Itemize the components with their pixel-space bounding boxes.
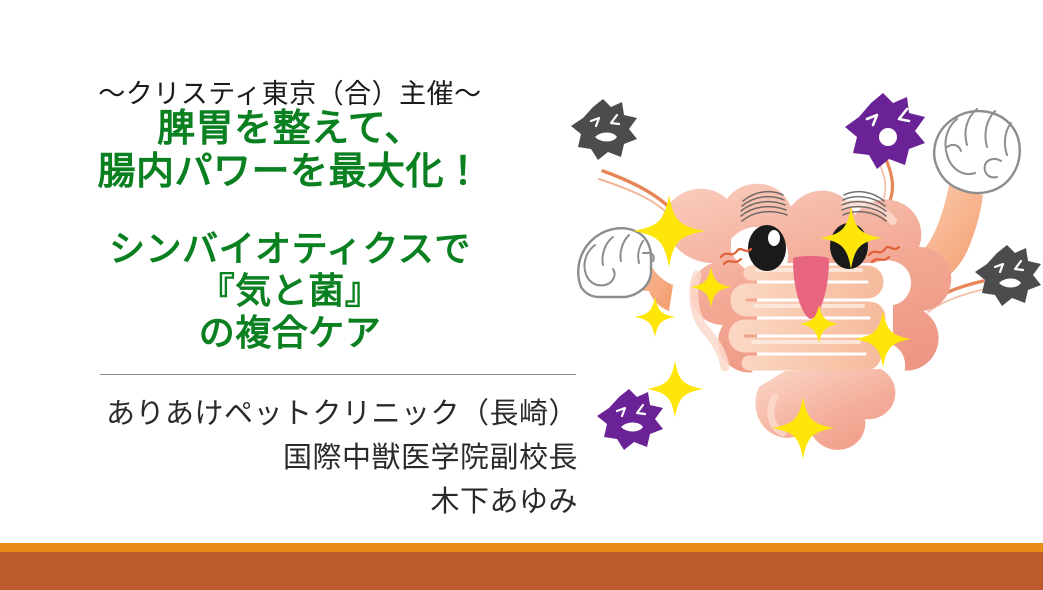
- horizontal-divider: [100, 374, 576, 375]
- host-line: 〜クリスティ東京（合）主催〜: [0, 72, 580, 111]
- sub-title: シンバイオティクスで 『気と菌』 の複合ケア: [0, 228, 580, 354]
- main-title-line-2: 腸内パワーを最大化！: [0, 151, 580, 194]
- attribution-presenter-name: 木下あゆみ: [0, 480, 578, 524]
- germ-gray-top-left: [571, 99, 637, 160]
- left-eye: [748, 225, 786, 271]
- sub-title-line-1: シンバイオティクスで: [0, 228, 580, 270]
- attribution-role: 国際中獣医学院副校長: [0, 436, 578, 480]
- sub-title-line-3: の複合ケア: [0, 312, 580, 354]
- cecum-pouch: [756, 369, 896, 450]
- text-column: 〜クリスティ東京（合）主催〜 脾胃を整えて、 腸内パワーを最大化！ シンバイオテ…: [0, 0, 600, 540]
- germ-purple-bottom: [597, 389, 663, 450]
- attribution-clinic: ありあけペットクリニック（長崎）: [0, 392, 578, 436]
- footer-base-bar: [0, 552, 1043, 590]
- footer-accent-bar: [0, 543, 1043, 552]
- germ-gray-right: [975, 245, 1041, 306]
- intestine-mascot-illustration: [545, 75, 1043, 540]
- sub-title-line-2: 『気と菌』: [0, 270, 580, 312]
- slide-canvas: 〜クリスティ東京（合）主催〜 脾胃を整えて、 腸内パワーを最大化！ シンバイオテ…: [0, 0, 1043, 590]
- attribution-block: ありあけペットクリニック（長崎） 国際中獣医学院副校長 木下あゆみ: [0, 392, 578, 524]
- page-title: 脾胃を整えて、 腸内パワーを最大化！: [0, 108, 580, 193]
- germ-purple-top: [845, 93, 925, 169]
- main-title-line-1: 脾胃を整えて、: [0, 108, 580, 151]
